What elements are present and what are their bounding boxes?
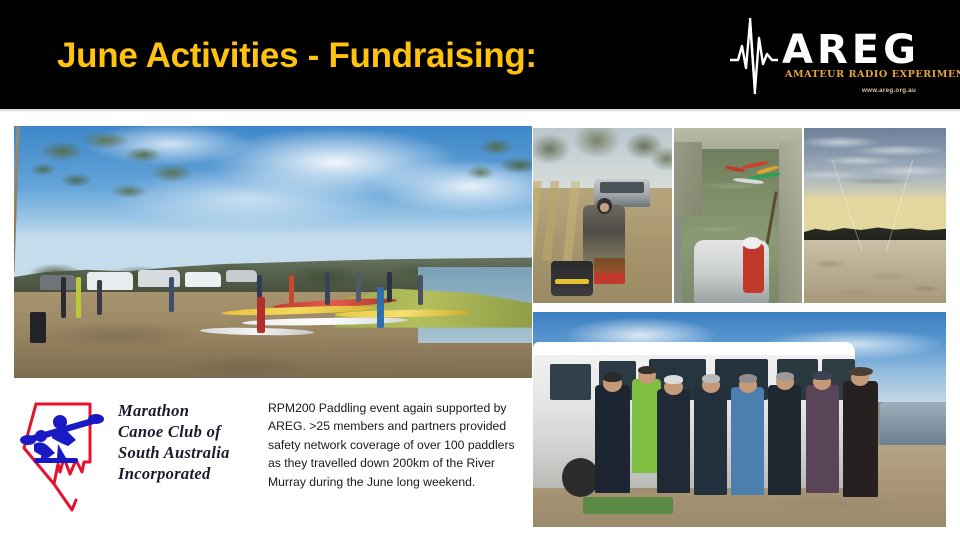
- photo-antenna-mast-dusk: [804, 128, 946, 303]
- green-mat: [583, 497, 674, 514]
- vehicle-windscreen: [600, 182, 644, 193]
- canoe-club-line-4: Incorporated: [118, 463, 230, 484]
- foreground-gum-tree: [24, 126, 262, 307]
- person-figure: [843, 381, 878, 497]
- canoe-club-line-1: Marathon: [118, 400, 230, 421]
- bus-window: [550, 364, 591, 401]
- areg-website-url: www.areg.org.au: [862, 87, 916, 94]
- person-figure: [418, 275, 423, 305]
- crew-hat: [743, 237, 761, 249]
- header-divider-rule: [0, 109, 960, 112]
- canoe-club-name: Marathon Canoe Club of South Australia I…: [118, 400, 230, 484]
- equipment-case: [30, 312, 46, 342]
- areg-logo: AREG AMATEUR RADIO EXPERIMENTERS GROUP w…: [728, 14, 940, 100]
- person-figure: [595, 385, 630, 493]
- canoe-club-line-3: South Australia: [118, 442, 230, 463]
- right-gum-tree: [428, 126, 532, 242]
- person-hair: [603, 372, 622, 382]
- slide-body-text: RPM200 Paddling event again supported by…: [268, 399, 522, 491]
- lock-wall-left: [674, 142, 702, 216]
- person-figure: [377, 287, 384, 327]
- person-cap: [812, 371, 832, 380]
- bus-wheel: [562, 458, 599, 497]
- photo-portable-radio-operator: [533, 128, 672, 303]
- parked-vehicle: [880, 402, 946, 445]
- canoe-club-line-2: Canoe Club of: [118, 421, 230, 442]
- person-hair: [776, 372, 794, 381]
- person-figure: [806, 385, 839, 493]
- person-figure: [768, 385, 801, 495]
- south-australia-outline-icon: [18, 388, 110, 514]
- ecg-waveform-icon: [728, 16, 780, 96]
- photo-river-staging-area: [14, 126, 532, 378]
- lock-wall-right: [779, 142, 802, 303]
- photo-river-lock-kayakers: [674, 128, 802, 303]
- bus-roof: [533, 342, 855, 355]
- person-figure: [731, 387, 764, 495]
- person-hair: [739, 374, 757, 383]
- person-cap: [664, 375, 684, 384]
- photo-volunteer-group-at-bus: [533, 312, 946, 527]
- sand-texture: [804, 247, 946, 303]
- equipment-box: [594, 273, 625, 284]
- page-title: June Activities - Fundraising:: [57, 36, 537, 76]
- person-figure: [289, 275, 294, 308]
- person-figure: [356, 272, 361, 302]
- person-hair: [702, 374, 720, 383]
- person-hair: [638, 366, 655, 375]
- person-figure: [694, 387, 727, 495]
- areg-tagline: AMATEUR RADIO EXPERIMENTERS GROUP: [785, 69, 960, 80]
- boat-crew-member: [743, 244, 763, 293]
- areg-wordmark: AREG: [782, 30, 920, 70]
- marathon-canoe-club-logo: Marathon Canoe Club of South Australia I…: [18, 388, 258, 514]
- person-figure: [657, 389, 690, 492]
- gear-bag-stripe: [555, 279, 588, 284]
- cloud-layer: [804, 128, 946, 230]
- presentation-slide: June Activities - Fundraising: AREG AMAT…: [0, 0, 960, 540]
- person-figure: [387, 272, 392, 302]
- person-figure: [325, 272, 330, 305]
